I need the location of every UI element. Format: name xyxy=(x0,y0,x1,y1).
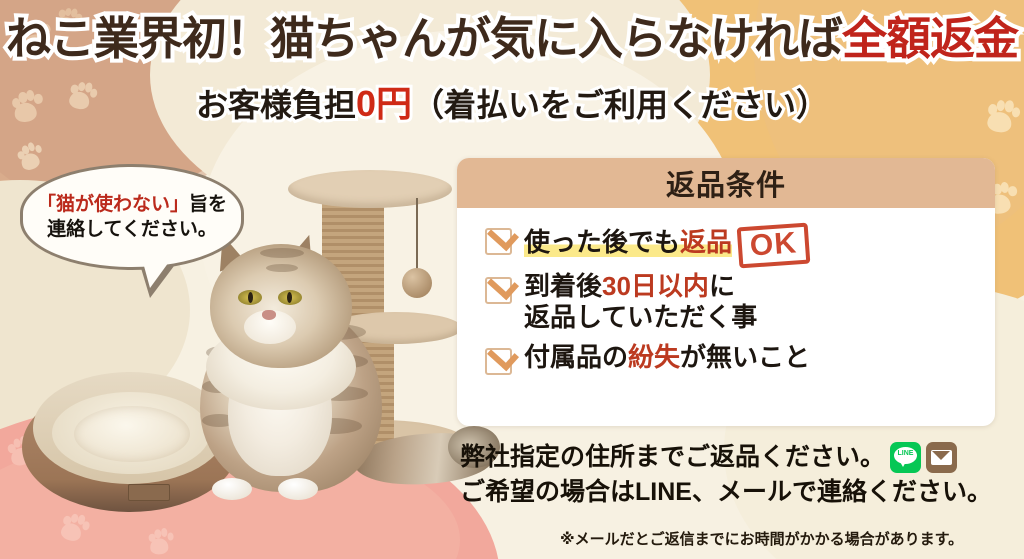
condition-1-highlight: 返品 xyxy=(680,227,732,257)
checkbox-checked-icon xyxy=(485,277,512,304)
condition-2-after: に xyxy=(709,271,735,301)
cat-nose xyxy=(262,310,276,320)
subtitle-highlight-text: 0円 xyxy=(356,83,412,124)
headline-main-text: ねこ業界初！猫ちゃんが気に入らなければ xyxy=(6,13,842,64)
cat-bed-cushion xyxy=(74,406,190,462)
cat-tree-top-platform xyxy=(288,170,452,208)
condition-2-line2: 返品していただく事 xyxy=(524,302,757,332)
cat-front-paw-left xyxy=(212,478,252,500)
footer-row-1: 弊社指定の住所までご返品ください。 LINE xyxy=(460,440,1020,475)
mail-icon[interactable] xyxy=(926,442,957,473)
speech-bubble-tail-fill xyxy=(141,255,174,288)
list-item: 使った後でも返品OK xyxy=(485,222,995,263)
return-conditions-header: 返品条件 xyxy=(457,158,995,208)
cat-head xyxy=(210,244,352,368)
speech-bubble-quote-text: 「猫が使わない」 xyxy=(37,194,189,215)
cat-pupil-right xyxy=(287,292,292,303)
condition-2-highlight: 30日以内 xyxy=(602,271,709,301)
line-icon[interactable]: LINE xyxy=(890,442,921,473)
cat-illustration xyxy=(186,238,466,538)
return-conditions-list: 使った後でも返品OK 到着後30日以内に 返品していただく事 付属品の紛失が無い… xyxy=(457,208,995,375)
condition-text-1: 使った後でも返品OK xyxy=(524,222,809,263)
condition-3-highlight: 紛失 xyxy=(628,342,680,372)
footer-row-2: ご希望の場合はLINE、メールで連絡ください。 xyxy=(460,475,1020,510)
checkbox-checked-icon xyxy=(485,348,512,375)
return-conditions-title: 返品条件 xyxy=(666,162,786,204)
line-icon-label: LINE xyxy=(890,450,921,457)
condition-3-after: が無いこと xyxy=(680,342,810,372)
condition-3-before: 付属品の xyxy=(524,342,628,372)
subtitle-before-text: お客様負担 xyxy=(196,87,356,123)
speech-bubble-line-1: 「猫が使わない」旨を xyxy=(37,192,227,217)
return-conditions-card: 返品条件 使った後でも返品OK 到着後30日以内に 返品していただく事 付属品の xyxy=(457,158,995,426)
cat-front-paw-right xyxy=(278,478,318,500)
headline-highlight-text: 全額返金 xyxy=(842,13,1018,64)
checkbox-checked-icon xyxy=(485,228,512,255)
condition-1-before: 使った後でも xyxy=(524,227,680,257)
speech-bubble: 「猫が使わない」旨を 連絡してください。 xyxy=(20,164,244,270)
speech-bubble-line-2: 連絡してください。 xyxy=(47,217,217,242)
cat-pupil-left xyxy=(248,292,253,303)
speech-bubble-line1-rest: 旨を xyxy=(189,194,227,215)
condition-text-3: 付属品の紛失が無いこと xyxy=(524,342,810,374)
promo-banner: ねこ業界初！猫ちゃんが気に入らなければ全額返金 お客様負担0円（着払いをご利用く… xyxy=(0,0,1024,559)
paw-print-icon xyxy=(149,527,179,559)
ok-stamp-badge: OK xyxy=(737,223,811,268)
footer-line-1: 弊社指定の住所までご返品ください。 xyxy=(460,440,885,475)
list-item: 付属品の紛失が無いこと xyxy=(485,342,995,375)
condition-2-before: 到着後 xyxy=(524,271,602,301)
condition-text-2: 到着後30日以内に 返品していただく事 xyxy=(524,271,757,334)
footer-fineprint: ※メールだとご返信までにお時間がかかる場合があります。 xyxy=(560,528,1020,549)
banner-subtitle: お客様負担0円（着払いをご利用ください） xyxy=(0,86,1024,122)
cat-bed-label-tag xyxy=(128,484,170,501)
subtitle-after-text: （着払いをご利用ください） xyxy=(412,87,828,123)
envelope-shape xyxy=(931,450,952,465)
footer-instructions: 弊社指定の住所までご返品ください。 LINE ご希望の場合はLINE、メールで連… xyxy=(460,440,1020,509)
banner-headline: ねこ業界初！猫ちゃんが気に入らなければ全額返金 xyxy=(0,16,1024,61)
footer-line-2: ご希望の場合はLINE、メールで連絡ください。 xyxy=(460,475,992,510)
list-item: 到着後30日以内に 返品していただく事 xyxy=(485,271,995,334)
